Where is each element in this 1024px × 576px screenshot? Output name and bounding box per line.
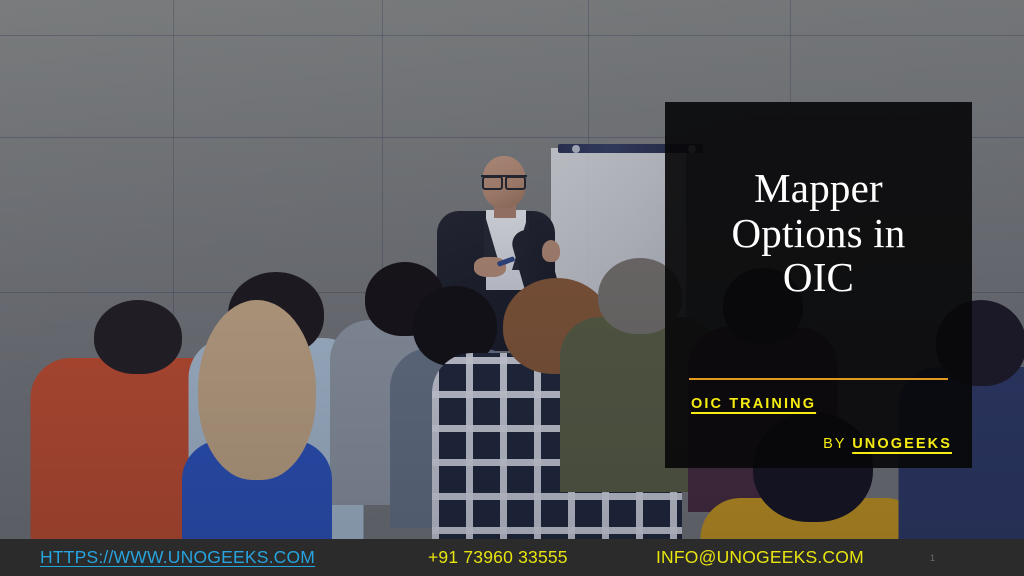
byline-brand: UNOGEEKS xyxy=(852,436,952,452)
byline-prefix: BY xyxy=(823,436,852,452)
accent-divider xyxy=(689,378,948,380)
page-number: 1 xyxy=(930,553,935,563)
footer-email-address[interactable]: INFO@UNOGEEKS.COM xyxy=(656,547,864,568)
byline: BY UNOGEEKS xyxy=(823,436,952,452)
footer-website-link[interactable]: HTTPS://WWW.UNOGEEKS.COM xyxy=(40,547,315,568)
page-title: Mapper Options in OIC xyxy=(732,166,906,300)
wall-grid-line-horizontal xyxy=(0,35,1024,36)
attendee-orange-sweater-head xyxy=(94,300,182,374)
footer-bar: HTTPS://WWW.UNOGEEKS.COM +91 73960 33555… xyxy=(0,539,1024,576)
presentation-slide: Mapper Options in OIC OIC TRAINING BY UN… xyxy=(0,0,1024,576)
presenter-glasses xyxy=(481,175,527,184)
presenter-hand-raised xyxy=(542,240,560,262)
flipchart-rail-knob xyxy=(572,145,580,153)
attendee-blonde-hair-head xyxy=(198,300,316,480)
attendee-blonde-hair xyxy=(182,300,332,576)
title-overlay-panel: Mapper Options in OIC OIC TRAINING BY UN… xyxy=(665,102,972,468)
footer-phone-number[interactable]: +91 73960 33555 xyxy=(428,547,568,568)
title-block: Mapper Options in OIC xyxy=(683,102,954,378)
course-subtitle: OIC TRAINING xyxy=(691,396,816,412)
